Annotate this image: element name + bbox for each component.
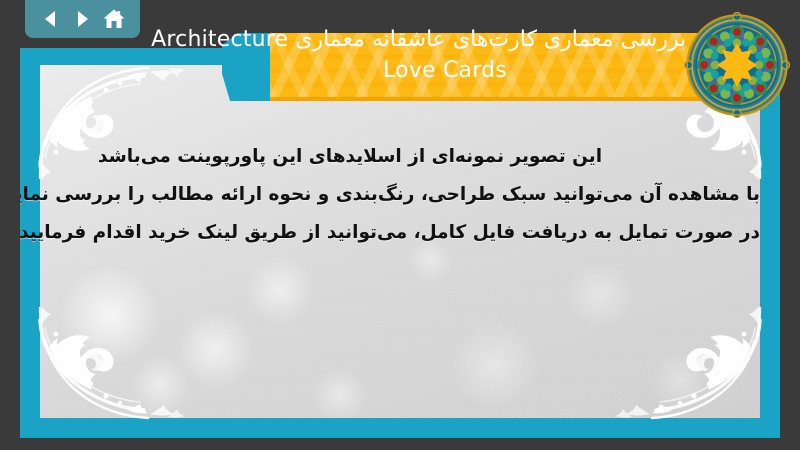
forward-icon[interactable] [69, 6, 95, 32]
back-icon[interactable] [38, 6, 64, 32]
navigation-bar [25, 0, 140, 38]
slide-body-text: این تصویر نمونه‌ای از اسلایدهای این پاور… [60, 138, 760, 252]
persian-medallion-ornament [684, 12, 790, 118]
title-banner-underline [270, 97, 720, 101]
home-icon[interactable] [101, 6, 127, 32]
body-line: این تصویر نمونه‌ای از اسلایدهای این پاور… [60, 138, 760, 176]
slide-frame: این تصویر نمونه‌ای از اسلایدهای این پاور… [20, 48, 780, 438]
title-banner-pattern [270, 33, 720, 101]
title-banner [270, 33, 720, 101]
body-line: در صورت تمایل به دریافت فایل کامل، می‌تو… [60, 214, 760, 252]
slide-viewer: این تصویر نمونه‌ای از اسلایدهای این پاور… [0, 0, 800, 450]
body-line: با مشاهده آن می‌توانید سبک طراحی، رنگ‌بن… [60, 176, 760, 214]
